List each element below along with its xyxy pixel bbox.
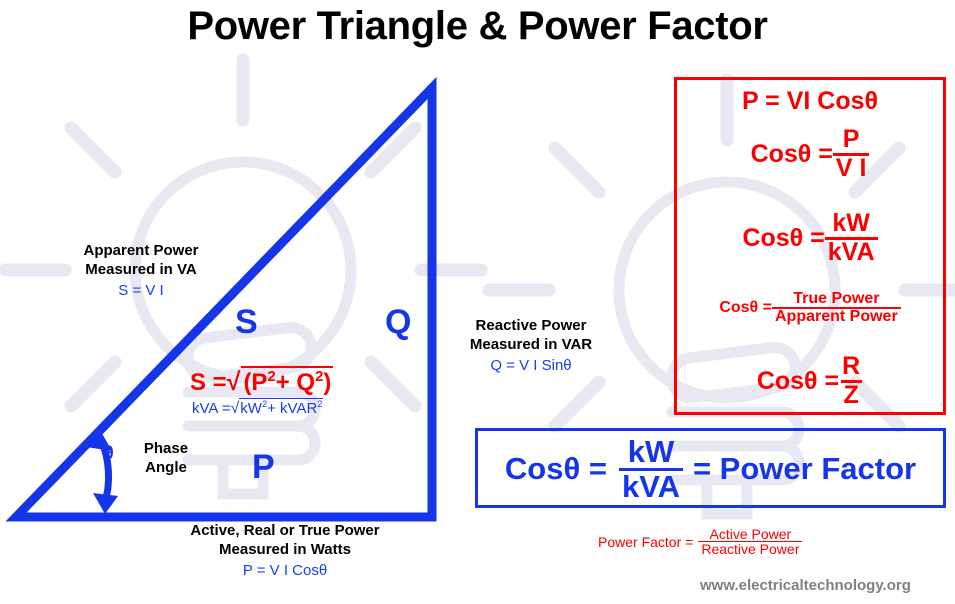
power-factor-small-lhs: Power Factor = [598,534,693,550]
active-power-label: Active, Real or True Power Measured in W… [128,521,442,580]
power-factor-small-denominator: Reactive Power [698,541,802,556]
vertical-label-q: Q [385,305,411,339]
reactive-power-label: Reactive Power Measured in VAR Q = V I S… [462,316,600,375]
s-formula-red-exp1: 2 [267,369,275,385]
red-box-row4-lhs: Cosθ = [719,299,772,317]
phase-angle-label: Phase Angle [126,439,206,477]
reactive-power-line2: Measured in VAR [462,335,600,354]
apparent-power-line2: Measured in VA [62,260,220,279]
site-url: www.electricaltechnology.org [700,577,911,594]
blue-box-rhs: = Power Factor [693,451,916,487]
red-box-row-5: Cosθ = R Z [677,354,943,408]
s-formula-red-plus: + Q [276,369,315,396]
red-box-row2-numerator: P [840,127,863,153]
base-label-p: P [252,450,275,484]
red-box-row-4: Cosθ = True Power Apparent Power [677,291,943,326]
reactive-power-line1: Reactive Power [462,316,600,335]
power-factor-formula-box-red: P = VI Cosθ Cosθ = P V I Cosθ = kW kVA C… [674,77,946,415]
red-box-row5-fraction: R Z [839,354,863,408]
red-box-row1-text: P = VI Cosθ [742,87,878,116]
infographic-canvas: Power Triangle & Power Factor S Q P θ Ph… [0,0,955,604]
red-box-row4-numerator: True Power [790,291,882,307]
red-box-row-3: Cosθ = kW kVA [677,211,943,265]
s-formula-blue-term1: kW [240,400,262,417]
red-box-row5-lhs: Cosθ = [757,367,839,396]
red-box-row2-denominator: V I [833,153,870,182]
s-formula-blue-plus: + kVAR [267,400,317,417]
active-power-line2: Measured in Watts [128,540,442,559]
red-box-row4-fraction: True Power Apparent Power [772,291,901,326]
blue-box-numerator: kW [625,436,678,468]
red-box-row2-fraction: P V I [833,127,870,181]
apparent-power-label: Apparent Power Measured in VA S = V I [62,241,220,300]
red-box-row3-denominator: kVA [825,237,878,266]
red-box-row3-fraction: kW kVA [825,211,878,265]
red-box-row5-denominator: Z [841,380,862,409]
red-box-row3-lhs: Cosθ = [742,224,824,253]
apparent-power-sqrt-formula-red: S = √ (P2+ Q2) [190,366,333,397]
power-factor-formula-box-blue: Cosθ = kW kVA = Power Factor [475,428,946,508]
apparent-power-line1: Apparent Power [62,241,220,260]
s-formula-blue-lhs: kVA = [192,400,231,417]
red-box-row-2: Cosθ = P V I [677,127,943,181]
reactive-power-formula: Q = V I Sinθ [462,356,600,375]
apparent-power-sqrt-formula-blue: kVA = √ kW2+ kVAR2 [192,398,323,418]
s-formula-red-radicand: (P2+ Q2) [241,366,333,397]
s-formula-blue-radicand: kW2+ kVAR2 [239,398,323,417]
radical-sign-blue: √ [231,400,240,418]
hypotenuse-label-s: S [235,305,258,339]
power-factor-small-numerator: Active Power [707,527,795,541]
s-formula-red-open: (P [243,369,267,396]
blue-box-fraction: kW kVA [619,436,683,502]
radical-sign: √ [227,368,241,397]
red-box-row-1: P = VI Cosθ [677,87,943,116]
blue-box-lhs: Cosθ = [505,451,607,487]
red-box-row4-denominator: Apparent Power [772,307,901,325]
phase-angle-line2: Angle [126,458,206,477]
power-factor-ratio-formula: Power Factor = Active Power Reactive Pow… [598,527,802,557]
power-factor-small-fraction: Active Power Reactive Power [698,527,802,557]
phase-angle-line1: Phase [126,439,206,458]
s-formula-blue-exp2: 2 [317,399,322,409]
blue-box-equation: Cosθ = kW kVA = Power Factor [478,435,943,503]
red-box-row5-numerator: R [839,354,863,380]
blue-box-denominator: kVA [619,468,683,503]
red-box-row2-lhs: Cosθ = [751,140,833,169]
active-power-line1: Active, Real or True Power [128,521,442,540]
apparent-power-formula: S = V I [62,281,220,300]
s-formula-red-lhs: S = [190,369,227,397]
s-formula-red-close: ) [323,369,331,396]
active-power-formula: P = V I Cosθ [128,561,442,580]
red-box-row3-numerator: kW [829,211,873,237]
theta-symbol: θ [104,443,114,464]
